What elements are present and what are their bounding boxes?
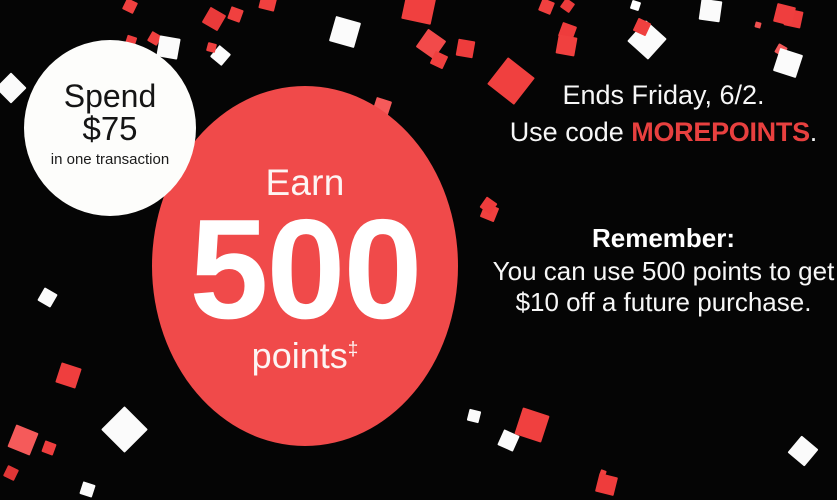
confetti-square xyxy=(202,7,227,32)
confetti-square xyxy=(3,465,19,481)
offer-badge: Earn 500 points‡ xyxy=(152,86,458,446)
confetti-square xyxy=(122,0,138,14)
confetti-square xyxy=(147,31,162,46)
confetti-square xyxy=(41,440,56,455)
confetti-square xyxy=(401,0,437,25)
confetti-square xyxy=(329,16,361,48)
remember-body: You can use 500 points to get $10 off a … xyxy=(490,256,837,319)
expiry-line: Ends Friday, 6/2. xyxy=(490,78,837,113)
confetti-square xyxy=(227,6,244,23)
confetti-square xyxy=(258,0,277,12)
remember-heading: Remember: xyxy=(490,222,837,255)
confetti-square xyxy=(430,51,449,70)
points-value: 500 xyxy=(190,205,421,336)
promo-code: MOREPOINTS xyxy=(631,117,810,147)
confetti-square xyxy=(79,481,95,497)
confetti-square xyxy=(55,362,81,388)
confetti-square xyxy=(7,424,38,455)
confetti-square xyxy=(467,409,482,424)
remember-block: Remember: You can use 500 points to get … xyxy=(490,222,837,319)
promo-banner: Spend $75 in one transaction Earn 500 po… xyxy=(0,0,837,500)
confetti-square xyxy=(37,287,57,307)
expiry-and-code-block: Ends Friday, 6/2. Use code MOREPOINTS. xyxy=(490,78,837,150)
points-word-group: points‡ xyxy=(252,338,359,374)
confetti-square xyxy=(101,406,148,453)
spend-note: in one transaction xyxy=(51,152,169,169)
confetti-square xyxy=(416,29,447,60)
spend-requirement-badge: Spend $75 in one transaction xyxy=(24,40,196,216)
points-footnote-symbol: ‡ xyxy=(348,339,359,360)
confetti-square xyxy=(0,72,27,103)
points-word: points xyxy=(252,335,348,376)
promo-code-line: Use code MOREPOINTS. xyxy=(490,115,837,150)
confetti-square xyxy=(456,39,476,59)
promo-suffix: . xyxy=(810,117,818,147)
promo-details: Ends Friday, 6/2. Use code MOREPOINTS. R… xyxy=(490,0,837,500)
spend-label: Spend xyxy=(64,80,157,113)
confetti-square xyxy=(210,45,231,66)
promo-prefix: Use code xyxy=(510,117,632,147)
spend-amount: $75 xyxy=(82,112,137,147)
confetti-square xyxy=(206,42,217,53)
